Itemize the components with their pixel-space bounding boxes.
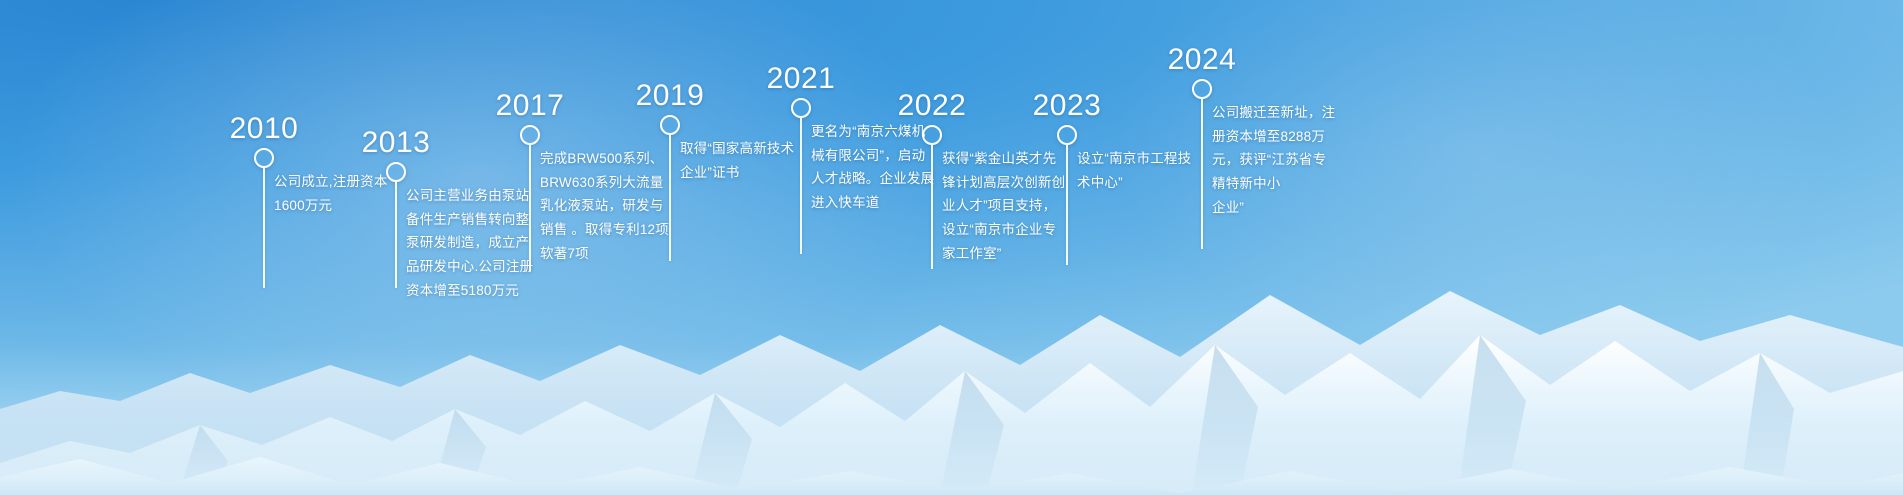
milestone-year-2022: 2022 [898, 89, 967, 123]
milestone-stem-2019 [669, 135, 671, 261]
milestone-stem-2023 [1066, 145, 1068, 265]
milestone-stem-2017 [529, 145, 531, 271]
milestone-stem-2022 [931, 145, 933, 269]
timeline-infographic: 2010 公司成立,注册资本 1600万元 2013 公司主营业务由泵站 备件生… [0, 0, 1903, 495]
milestone-description-2019: 取得“国家高新技术 企业”证书 [680, 137, 820, 184]
milestone-marker-2024[interactable] [1192, 79, 1212, 99]
milestone-year-2019: 2019 [636, 79, 705, 113]
milestone-marker-2017[interactable] [520, 125, 540, 145]
milestone-year-2024: 2024 [1168, 43, 1237, 77]
milestone-stem-2010 [263, 168, 265, 288]
milestone-description-2010: 公司成立,注册资本 1600万元 [274, 170, 404, 217]
milestone-description-2013: 公司主营业务由泵站 备件生产销售转向整 泵研发制造，成立产 品研发中心.公司注册… [406, 184, 536, 302]
milestone-description-2024: 公司搬迁至新址，注 册资本增至8288万 元，获评“江苏省专 精特新中小 企业” [1212, 101, 1352, 219]
milestone-marker-2022[interactable] [922, 125, 942, 145]
milestone-description-2022: 获得“紫金山英才先 锋计划高层次创新创 业人才”项目支持， 设立“南京市企业专 … [942, 147, 1082, 265]
milestone-year-2023: 2023 [1033, 89, 1102, 123]
milestone-marker-2021[interactable] [791, 98, 811, 118]
milestone-description-2017: 完成BRW500系列、 BRW630系列大流量 乳化液泵站，研发与 销售 。取得… [540, 147, 680, 265]
milestone-stem-2013 [395, 182, 397, 288]
milestone-marker-2019[interactable] [660, 115, 680, 135]
milestone-marker-2010[interactable] [254, 148, 274, 168]
milestone-marker-2023[interactable] [1057, 125, 1077, 145]
milestone-marker-2013[interactable] [386, 162, 406, 182]
milestone-year-2021: 2021 [767, 62, 836, 96]
milestone-year-2013: 2013 [362, 126, 431, 160]
milestone-description-2023: 设立“南京市工程技 术中心” [1077, 147, 1217, 194]
milestone-stem-2021 [800, 118, 802, 254]
timeline-track: 2010 公司成立,注册资本 1600万元 2013 公司主营业务由泵站 备件生… [0, 0, 1903, 495]
milestone-year-2017: 2017 [496, 89, 565, 123]
milestone-year-2010: 2010 [230, 112, 299, 146]
milestone-stem-2024 [1201, 99, 1203, 249]
